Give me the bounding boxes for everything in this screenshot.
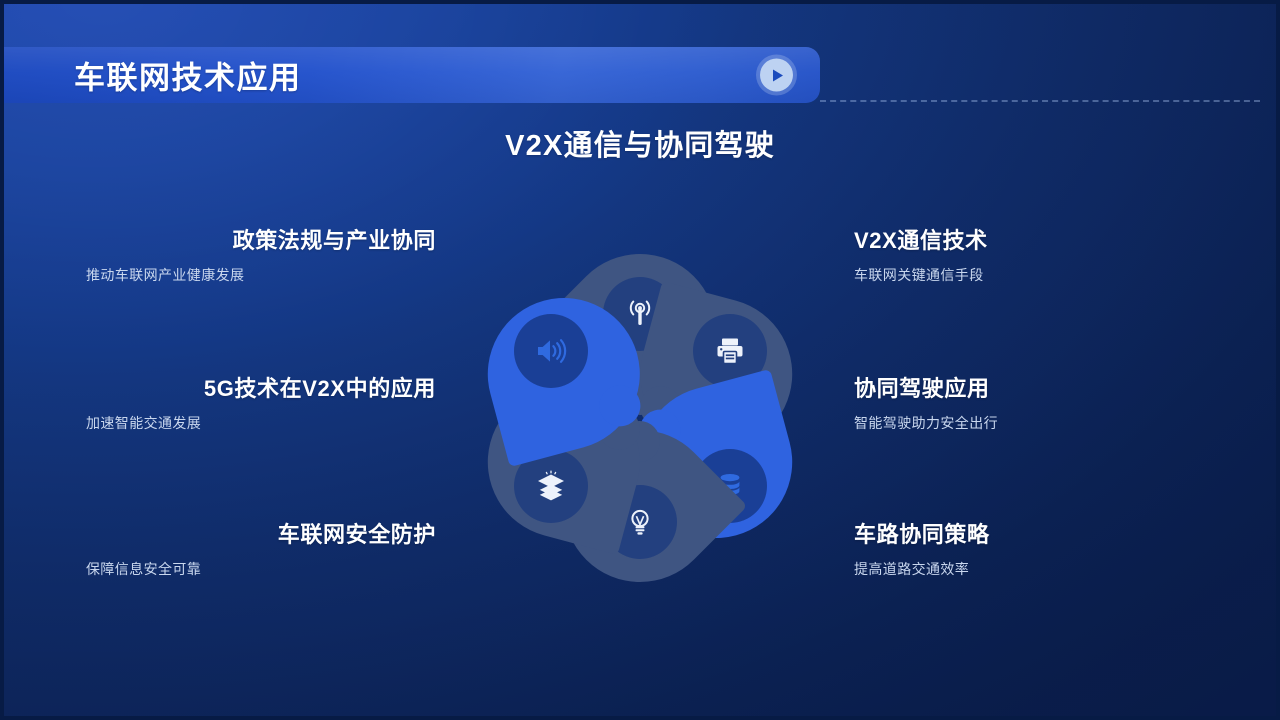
page-title: 车联网技术应用 [74, 53, 302, 98]
label-item-cooperative-driving[interactable]: 协同驾驶应用 智能驾驶助力安全出行 [854, 376, 1204, 433]
layers-icon [534, 469, 568, 503]
label-subtitle: 保障信息安全可靠 [86, 559, 436, 579]
label-item-road-coordination[interactable]: 车路协同策略 提高道路交通效率 [854, 522, 1204, 579]
speaker-volume-icon [533, 334, 569, 368]
label-subtitle: 加速智能交通发展 [86, 413, 436, 433]
label-item-v2x-tech[interactable]: V2X通信技术 车联网关键通信手段 [854, 228, 1204, 285]
icon-disc-speaker-volume[interactable] [514, 314, 588, 388]
label-title: 车联网安全防护 [86, 522, 436, 548]
label-subtitle: 推动车联网产业健康发展 [86, 265, 436, 285]
play-triangle-icon [773, 69, 783, 81]
printer-icon [713, 334, 747, 368]
label-subtitle: 提高道路交通效率 [854, 559, 1204, 579]
label-title: 5G技术在V2X中的应用 [86, 376, 436, 402]
header-bar: 车联网技术应用 [0, 47, 820, 103]
label-item-policy[interactable]: 政策法规与产业协同 推动车联网产业健康发展 [86, 228, 436, 285]
label-item-5g[interactable]: 5G技术在V2X中的应用 加速智能交通发展 [86, 376, 436, 433]
label-item-security[interactable]: 车联网安全防护 保障信息安全可靠 [86, 522, 436, 579]
label-title: 车路协同策略 [854, 522, 1204, 548]
label-title: V2X通信技术 [854, 228, 1204, 254]
label-title: 政策法规与产业协同 [86, 228, 436, 254]
section-heading: V2X通信与协同驾驶 [0, 122, 1280, 164]
header-dashed-divider [820, 100, 1260, 102]
play-button[interactable] [760, 59, 793, 92]
label-title: 协同驾驶应用 [854, 376, 1204, 402]
slide-canvas: 车联网技术应用 V2X通信与协同驾驶 政策法规与产业协同 推动车联网产业健康发展… [0, 0, 1280, 720]
label-subtitle: 车联网关键通信手段 [854, 265, 1204, 285]
label-subtitle: 智能驾驶助力安全出行 [854, 413, 1204, 433]
